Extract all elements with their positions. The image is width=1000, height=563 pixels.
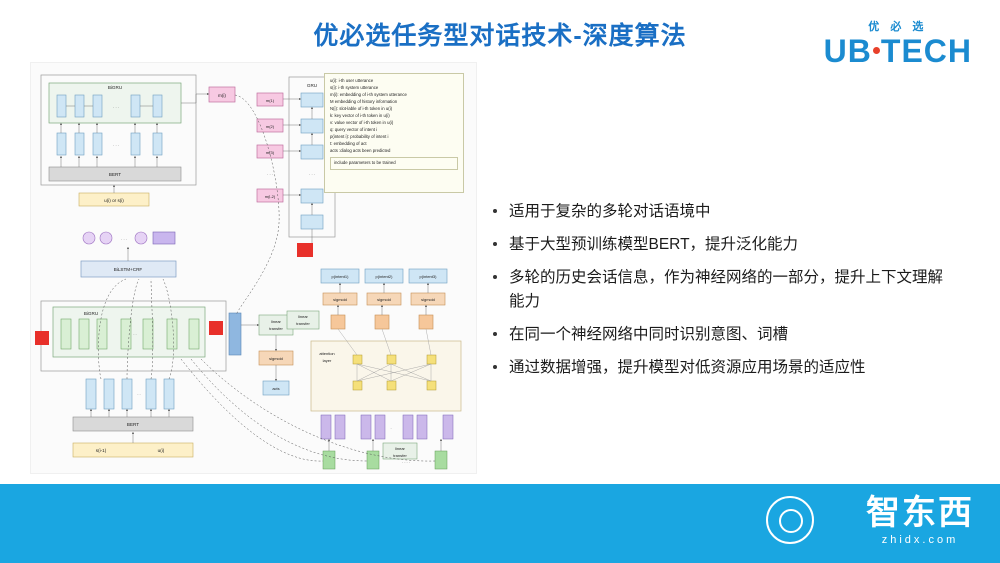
svg-text:u(i) or s(i): u(i) or s(i) — [104, 198, 124, 203]
svg-text:BiGRU: BiGRU — [84, 311, 98, 316]
architecture-diagram: BiGRU . . . . . . BERT u(i) or s(i) — [30, 62, 477, 474]
svg-text:linear: linear — [395, 446, 405, 451]
brand-logo-en-suffix: TECH — [881, 33, 972, 69]
svg-text:s(i-1): s(i-1) — [96, 448, 107, 453]
svg-text:p(intent2): p(intent2) — [376, 274, 394, 279]
svg-text:p(intent1): p(intent1) — [332, 274, 350, 279]
svg-text:sigmoid: sigmoid — [269, 356, 283, 361]
brand-logo-cn: 优 必 选 — [824, 22, 972, 33]
svg-text:BERT: BERT — [109, 172, 121, 177]
svg-text:linear: linear — [298, 314, 308, 319]
bullet-item: 多轮的历史会话信息，作为神经网络的一部分，提升上下文理解能力 — [507, 266, 957, 314]
svg-text:p(intent3): p(intent3) — [420, 274, 438, 279]
svg-text:. .: . . — [133, 331, 136, 336]
bullet-list: 适用于复杂的多轮对话语境中 基于大型预训练模型BERT，提升泛化能力 多轮的历史… — [487, 200, 957, 389]
svg-text:.: . — [390, 425, 391, 430]
svg-text:attention: attention — [319, 351, 334, 356]
bullet-item: 适用于复杂的多轮对话语境中 — [507, 200, 957, 224]
brand-logo: 优 必 选 UBTECH — [824, 22, 972, 67]
svg-text:m(1): m(1) — [266, 98, 275, 103]
diagram-legend: u(i): i-th user utterance s(i): i-th sys… — [324, 73, 464, 193]
svg-text:sigmoid: sigmoid — [377, 297, 391, 302]
brand-logo-en-prefix: UB — [824, 33, 872, 69]
svg-text:transfer: transfer — [296, 321, 310, 326]
footer-bar: 智东西 zhidx.com — [0, 484, 1000, 563]
legend-item: m(i): embedding of i-th system utterance — [330, 92, 458, 99]
svg-text:linear: linear — [271, 319, 281, 324]
svg-text:sigmoid: sigmoid — [421, 297, 435, 302]
svg-text:transfer: transfer — [393, 453, 407, 458]
legend-note: include parameters to be trained — [330, 157, 458, 170]
svg-text:transfer: transfer — [269, 326, 283, 331]
legend-item: acts :dialog acts been predicted — [330, 148, 458, 155]
legend-item: N(i): slot-lable of i-th token in u(i) — [330, 106, 458, 113]
svg-text:acts: acts — [272, 386, 279, 391]
bullet-item: 在同一个神经网络中同时识别意图、词槽 — [507, 323, 957, 347]
watermark: 智东西 zhidx.com — [866, 496, 974, 546]
svg-text:BiLSTM+CRF: BiLSTM+CRF — [114, 267, 143, 272]
watermark-circle-icon — [766, 496, 814, 544]
legend-item: M embedding of history information — [330, 99, 458, 106]
legend-item: p(intent i): probability of intent i — [330, 134, 458, 141]
brand-logo-en: UBTECH — [824, 35, 972, 67]
svg-text:sigmoid: sigmoid — [333, 297, 347, 302]
svg-text:. . .: . . . — [121, 236, 127, 241]
legend-item: u(i): i-th user utterance — [330, 78, 458, 85]
svg-text:. .: . . — [137, 391, 140, 396]
svg-text:. . .: . . . — [113, 104, 119, 109]
legend-item: v: value vector of i-th token in u(i) — [330, 120, 458, 127]
svg-text:. . .: . . . — [309, 171, 315, 176]
svg-text:. . .: . . . — [267, 171, 273, 176]
svg-text:layer: layer — [323, 358, 332, 363]
watermark-cn: 智东西 — [866, 496, 974, 530]
svg-text:m(2): m(2) — [266, 124, 275, 129]
legend-item: s(i): i-th system utterance — [330, 85, 458, 92]
legend-item: q: query vector of intent i — [330, 127, 458, 134]
bullet-item: 基于大型预训练模型BERT，提升泛化能力 — [507, 233, 957, 257]
legend-item: t: embedding of act — [330, 141, 458, 148]
svg-text:. . .: . . . — [113, 142, 119, 147]
svg-text:BERT: BERT — [127, 422, 139, 427]
legend-item: k: key vector of i-th token in u(i) — [330, 113, 458, 120]
bullet-item: 通过数据增强，提升模型对低资源应用场景的适应性 — [507, 356, 957, 380]
svg-text:GRU: GRU — [307, 83, 317, 88]
svg-text:m(l-2): m(l-2) — [265, 194, 276, 199]
watermark-en: zhidx.com — [866, 534, 974, 546]
svg-text:m(3): m(3) — [266, 150, 275, 155]
svg-text:m(i): m(i) — [218, 93, 226, 98]
svg-text:BiGRU: BiGRU — [108, 85, 122, 90]
brand-dot-icon — [873, 47, 880, 54]
svg-text:u(i): u(i) — [158, 448, 165, 453]
